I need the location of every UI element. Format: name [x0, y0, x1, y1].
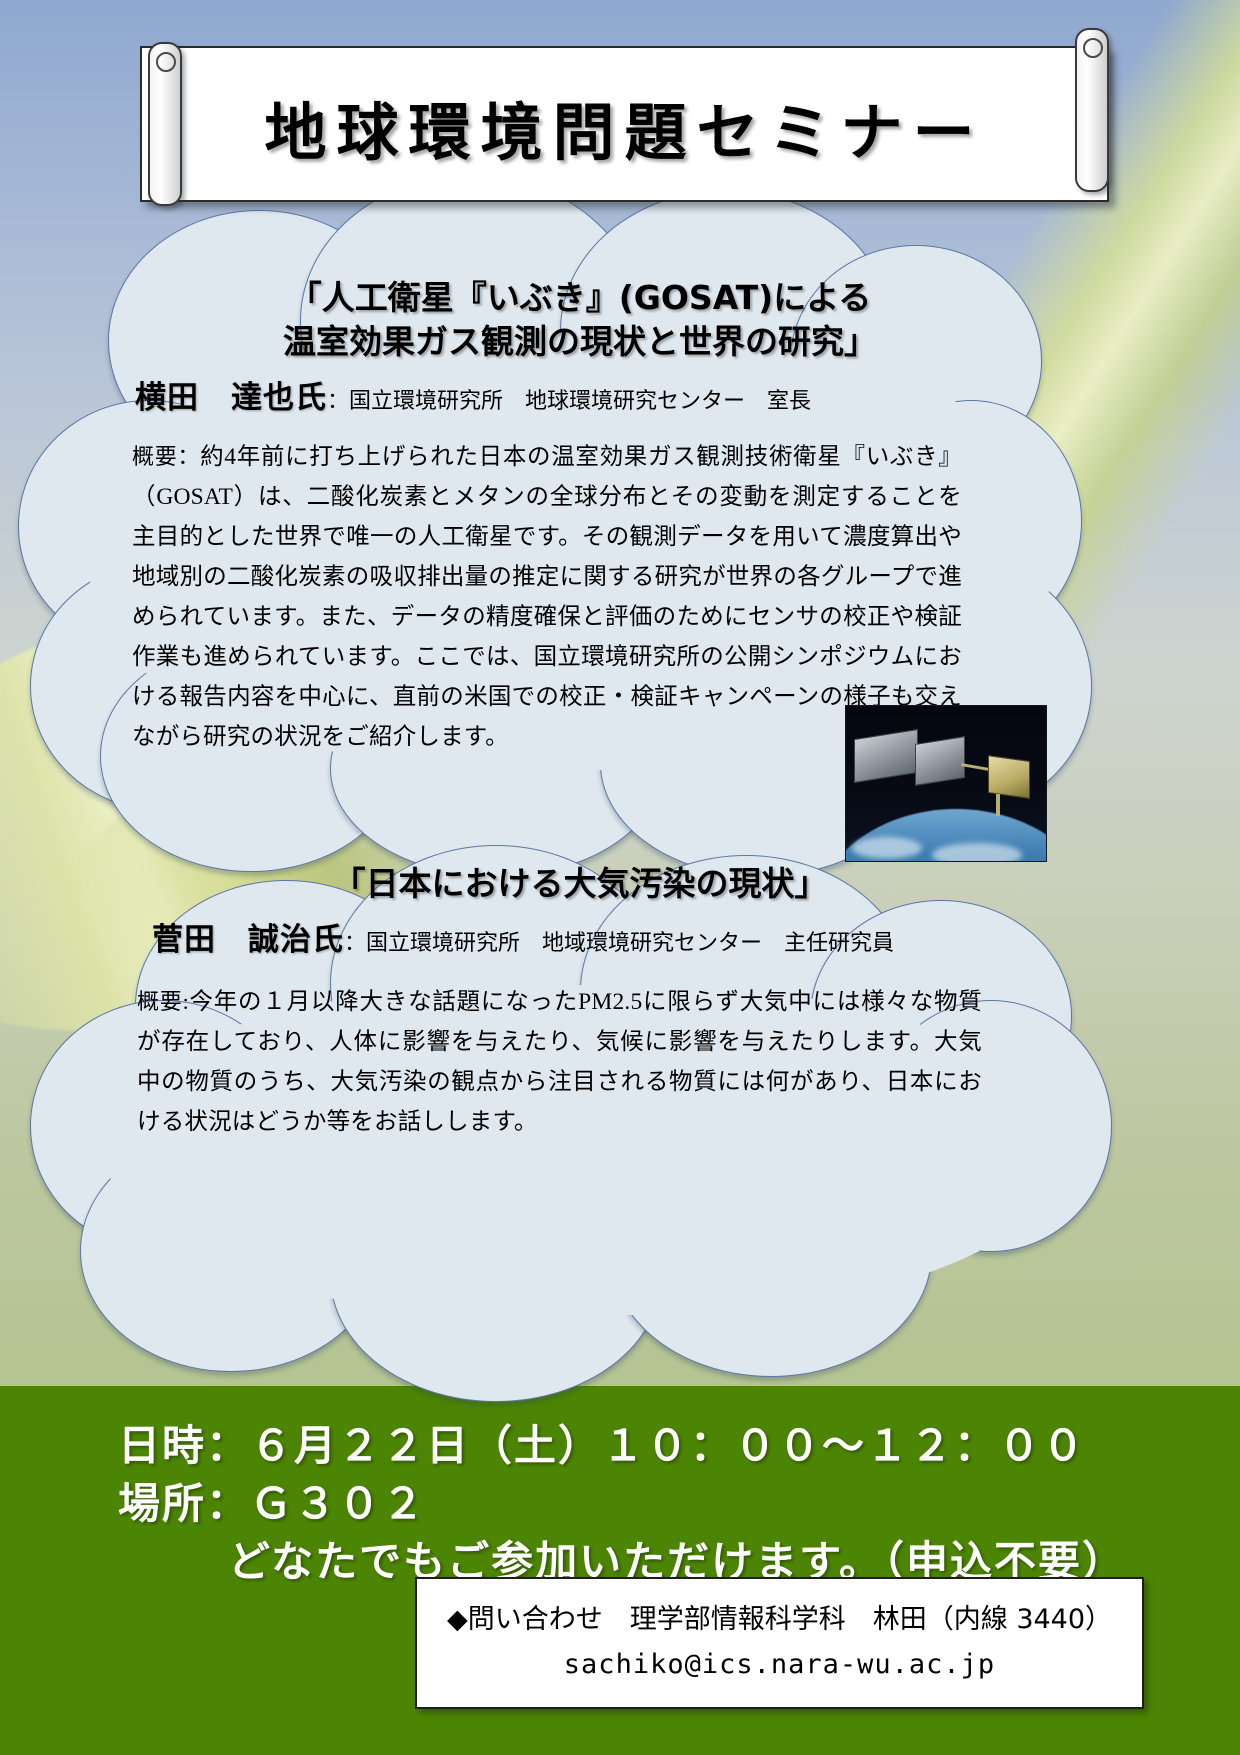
talk-1-abstract-body: 約4年前に打ち上げられた日本の温室効果ガス観測技術衛星『いぶき』（GOSAT）は… — [132, 444, 962, 750]
talk-2-title: 「日本における大気汚染の現状」 — [160, 862, 1000, 906]
title-banner: 地球環境問題セミナー — [140, 46, 1109, 202]
talk-1-speaker: 横田 達也氏：国立環境研究所 地球環境研究センター 室長 — [135, 378, 811, 428]
event-place: 場所：Ｇ３０２ — [118, 1470, 426, 1531]
talk-1-abstract-lead: 概要： — [132, 444, 200, 469]
solar-panel-left — [854, 729, 918, 783]
poster-title: 地球環境問題セミナー — [142, 82, 1107, 172]
contact-email[interactable]: sachiko@ics.nara-wu.ac.jp — [417, 1649, 1142, 1680]
contact-inquiry-line: ◆問い合わせ 理学部情報科学科 林田（内線 3440） — [417, 1597, 1142, 1636]
talk-2-speaker-name: 菅田 誠治氏 — [152, 922, 344, 958]
contact-box: ◆問い合わせ 理学部情報科学科 林田（内線 3440） sachiko@ics.… — [415, 1577, 1144, 1709]
talk-1-speaker-affiliation: ：国立環境研究所 地球環境研究センター 室長 — [327, 388, 811, 413]
talk-2-abstract: 概要:今年の１月以降大きな話題になったPM2.5に限らず大気中には様々な物質が存… — [137, 982, 982, 1142]
satellite-antenna — [996, 794, 1000, 816]
earth-cloud-swirl-2 — [932, 843, 1022, 862]
event-datetime: 日時：６月２２日（土）１０：００〜１２：００ — [118, 1412, 1086, 1473]
talk-2-speaker: 菅田 誠治氏：国立環境研究所 地域環境研究センター 主任研究員 — [152, 920, 894, 970]
earth-cloud-swirl-1 — [852, 837, 922, 859]
satellite-bus — [988, 755, 1030, 799]
talk-1-speaker-name: 横田 達也氏 — [135, 380, 327, 416]
scroll-roll-left — [148, 42, 182, 206]
scroll-roll-right — [1075, 28, 1109, 192]
poster-canvas: 地球環境問題セミナー 「人工衛星『いぶき』(GOSAT)による 温室効果ガス観測… — [0, 0, 1240, 1755]
satellite-photo — [845, 705, 1047, 862]
talk-2-abstract-lead: 概要: — [137, 989, 189, 1014]
solar-panel-center — [915, 736, 965, 786]
talk-2-speaker-affiliation: ：国立環境研究所 地域環境研究センター 主任研究員 — [344, 930, 894, 955]
talk-1-title: 「人工衛星『いぶき』(GOSAT)による 温室効果ガス観測の現状と世界の研究」 — [150, 276, 1010, 364]
talk-2-abstract-body: 今年の１月以降大きな話題になったPM2.5に限らず大気中には様々な物質が存在して… — [137, 989, 982, 1135]
talk-1-abstract: 概要：約4年前に打ち上げられた日本の温室効果ガス観測技術衛星『いぶき』（GOSA… — [132, 437, 962, 757]
